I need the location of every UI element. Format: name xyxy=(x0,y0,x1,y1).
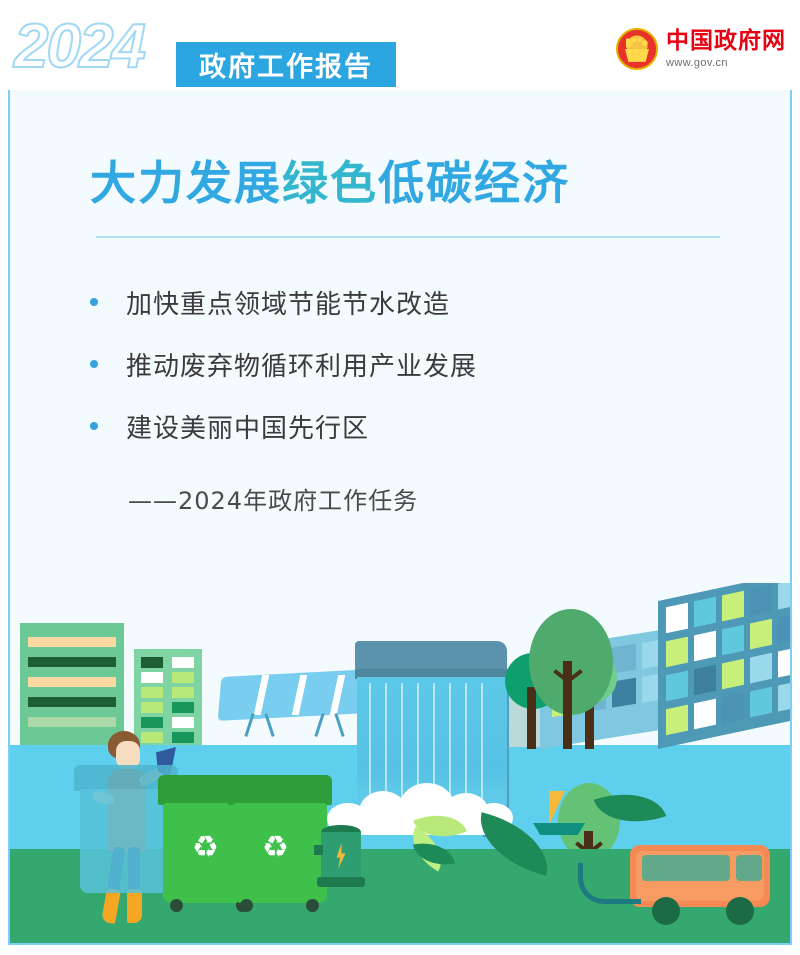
glass-skyscraper-tall-icon xyxy=(658,601,790,749)
recycle-symbol-icon: ♻ xyxy=(262,833,289,863)
title-part-2: 低碳经济 xyxy=(378,156,570,210)
green-low-carbon-economy-illustration: ♻ ♻ xyxy=(10,583,790,943)
list-item-label: 加快重点领域节能节水改造 xyxy=(126,284,450,321)
bullet-dot-icon xyxy=(90,422,98,430)
year-outline-text: 2024 xyxy=(14,16,144,78)
gov-logo-text: 中国政府网 www.gov.cn xyxy=(666,30,786,69)
list-item: 加快重点领域节能节水改造 xyxy=(90,271,710,333)
list-item: 建设美丽中国先行区 xyxy=(90,395,710,457)
gov-logo[interactable]: 中国政府网 www.gov.cn xyxy=(616,28,786,70)
report-banner-label: 政府工作报告 xyxy=(199,45,373,84)
recycle-symbol-icon: ♻ xyxy=(192,833,219,863)
sailboat-icon xyxy=(533,791,589,831)
title-accent: 绿色 xyxy=(282,156,378,210)
charging-cable xyxy=(578,863,641,904)
electric-bus-icon[interactable] xyxy=(630,845,778,921)
solar-panel-icon xyxy=(220,673,370,721)
bullet-list: 加快重点领域节能节水改造 推动废弃物循环利用产业发展 建设美丽中国先行区 xyxy=(90,271,710,457)
content-frame: 大力发展绿色低碳经济 加快重点领域节能节水改造 推动废弃物循环利用产业发展 建设… xyxy=(8,87,792,945)
list-item-label: 建设美丽中国先行区 xyxy=(126,408,369,445)
bullet-dot-icon xyxy=(90,360,98,368)
page-title: 大力发展绿色低碳经济 xyxy=(90,147,570,213)
tree-icon xyxy=(505,601,615,751)
list-item-label: 推动废弃物循环利用产业发展 xyxy=(126,346,477,383)
report-banner: 政府工作报告 xyxy=(176,42,396,87)
bullet-dot-icon xyxy=(90,298,98,306)
title-part-1: 大力发展 xyxy=(90,156,282,210)
gov-site-url: www.gov.cn xyxy=(666,58,786,69)
apartment-building-icon xyxy=(20,623,124,746)
title-divider xyxy=(96,236,720,238)
ev-charging-station-icon[interactable] xyxy=(317,825,365,887)
gov-site-name: 中国政府网 xyxy=(666,30,786,53)
national-emblem-icon xyxy=(616,28,658,70)
list-item: 推动废弃物循环利用产业发展 xyxy=(90,333,710,395)
attribution-text: ——2024年政府工作任务 xyxy=(128,481,418,516)
poster-page: 2024 政府工作报告 中国政府网 www.gov.cn 大力发展绿色低碳经济 … xyxy=(0,0,800,955)
page-header: 2024 政府工作报告 中国政府网 www.gov.cn xyxy=(0,0,800,90)
